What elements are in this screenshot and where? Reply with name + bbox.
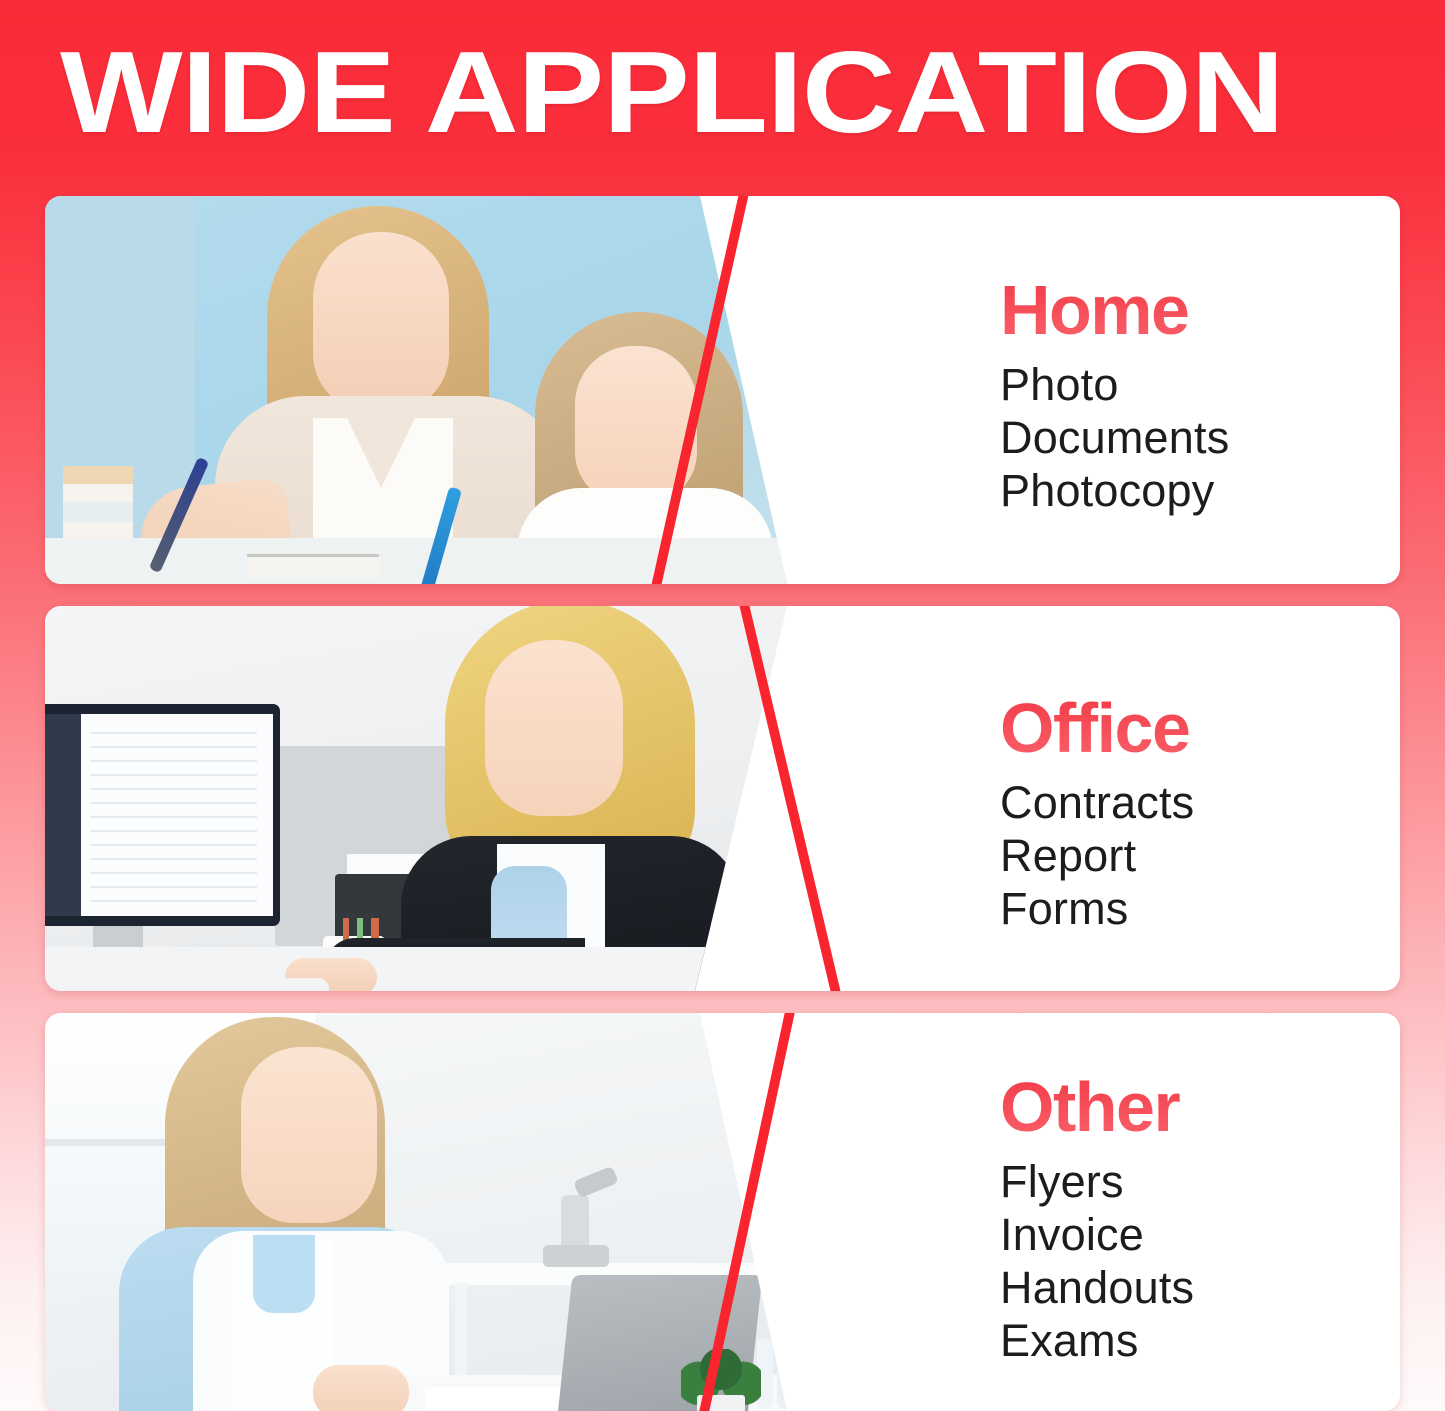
- photo-other: [45, 1013, 790, 1411]
- list-item: Documents: [1000, 411, 1400, 464]
- text-column-office: Office Contracts Report Forms: [840, 606, 1400, 991]
- notepad: [247, 554, 379, 578]
- table-leg-left: [455, 1283, 467, 1381]
- woman-face: [485, 640, 623, 816]
- diagonal-divider: [737, 606, 843, 991]
- photo-office-scene: [45, 606, 790, 991]
- application-card-other: Other Flyers Invoice Handouts Exams: [45, 1013, 1400, 1411]
- photo-home-scene: [45, 196, 790, 584]
- card-heading-home: Home: [1000, 272, 1400, 348]
- woman-hands: [313, 1365, 409, 1411]
- application-card-home: Home Photo Documents Photocopy: [45, 196, 1400, 584]
- feature-list-home: Photo Documents Photocopy: [1000, 358, 1400, 517]
- books-stack: [63, 466, 133, 544]
- header-banner: WIDE APPLICATION: [0, 0, 1445, 196]
- microscope-eyepiece: [573, 1166, 619, 1198]
- text-column-other: Other Flyers Invoice Handouts Exams: [840, 1013, 1400, 1411]
- woman-face: [241, 1047, 377, 1223]
- text-column-home: Home Photo Documents Photocopy: [840, 196, 1400, 584]
- list-item: Forms: [1000, 882, 1400, 935]
- photo-office: [45, 606, 790, 991]
- card-heading-other: Other: [1000, 1069, 1400, 1145]
- woman-face: [313, 232, 449, 412]
- list-item: Photocopy: [1000, 464, 1400, 517]
- list-item: Flyers: [1000, 1155, 1400, 1208]
- document-sheet: [425, 1387, 565, 1409]
- list-item: Contracts: [1000, 776, 1400, 829]
- list-item: Exams: [1000, 1314, 1400, 1367]
- microscope-base: [543, 1245, 609, 1267]
- list-item: Handouts: [1000, 1261, 1400, 1314]
- feature-list-office: Contracts Report Forms: [1000, 776, 1400, 935]
- card-heading-office: Office: [1000, 690, 1400, 766]
- test-tube-2: [777, 1351, 790, 1409]
- screen-sidebar: [45, 714, 81, 916]
- screen-text-lines: [91, 732, 257, 902]
- photo-home: [45, 196, 790, 584]
- computer-mouse: [277, 978, 329, 991]
- list-item: Invoice: [1000, 1208, 1400, 1261]
- woman-shirt: [253, 1235, 315, 1313]
- feature-list-other: Flyers Invoice Handouts Exams: [1000, 1155, 1400, 1367]
- application-card-office: Office Contracts Report Forms: [45, 606, 1400, 991]
- photo-other-scene: [45, 1013, 790, 1411]
- page-title: WIDE APPLICATION: [60, 34, 1283, 150]
- desk-surface: [45, 947, 790, 991]
- list-item: Report: [1000, 829, 1400, 882]
- list-item: Photo: [1000, 358, 1400, 411]
